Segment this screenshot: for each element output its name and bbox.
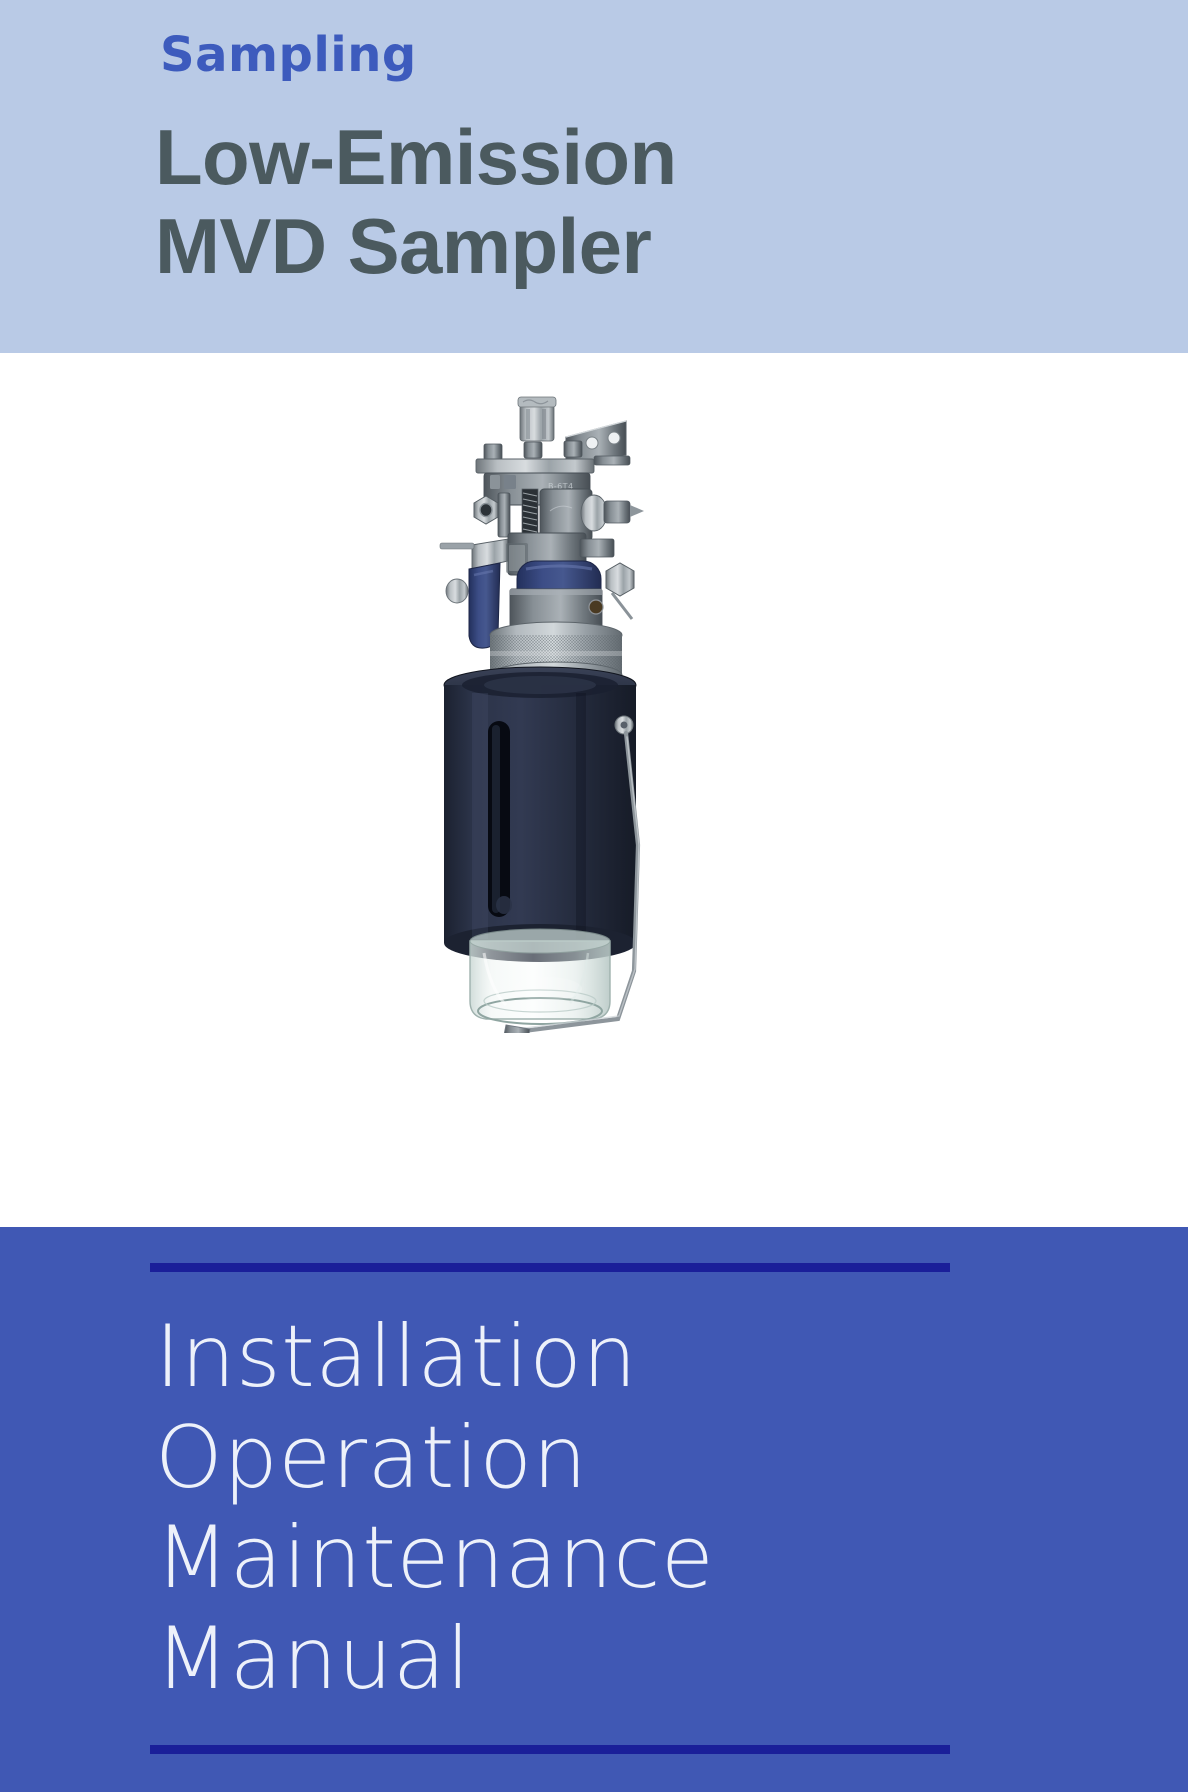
sampler-body [444,667,636,962]
page-title-line-1: Low-Emission [155,113,1055,202]
category-eyebrow: Sampling [160,31,417,79]
manual-type-list: Installation Operation Maintenance Manua… [155,1307,1115,1709]
product-stage: B-6T4 [0,353,1188,1227]
page-title-line-2: MVD Sampler [155,202,1055,291]
header-band: Sampling Low-Emission MVD Sampler [0,0,1188,353]
glass-sample-bottle [470,929,610,1024]
page-title: Low-Emission MVD Sampler [155,113,1055,291]
product-image-area: B-6T4 [0,353,1188,1227]
product-photo-sampler: B-6T4 [380,393,700,1033]
rule-top [150,1263,950,1272]
valve-block: B-6T4 [474,473,644,541]
top-fitting-group [518,397,556,441]
manual-line-installation: Installation [155,1307,1115,1408]
manual-line-maintenance: Maintenance [155,1508,1115,1609]
bail-foot-bracket [504,1025,530,1033]
rule-bottom [150,1745,950,1754]
manual-line-manual: Manual [155,1609,1115,1710]
manual-line-operation: Operation [155,1408,1115,1509]
manual-type-panel: Installation Operation Maintenance Manua… [0,1227,1188,1792]
